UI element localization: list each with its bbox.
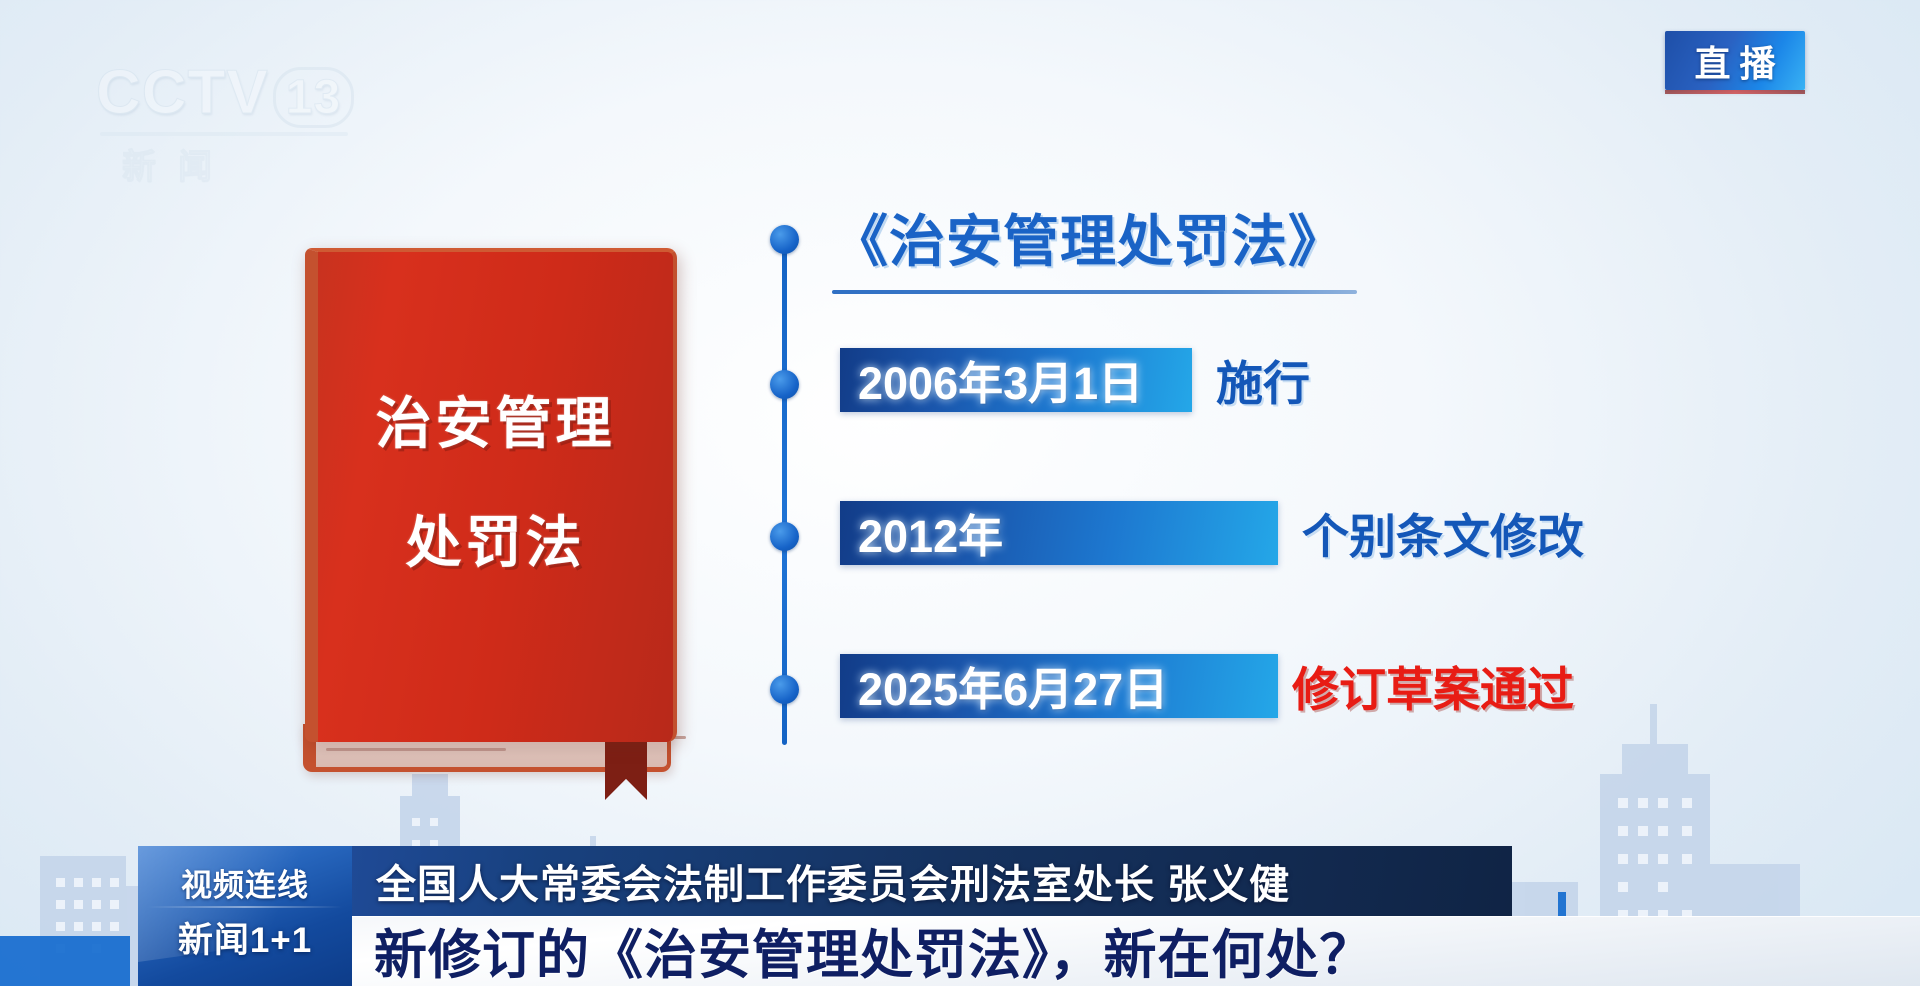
program-block-divider — [148, 906, 342, 908]
timeline-bullet-header — [770, 225, 799, 254]
law-timeline: 《治安管理处罚法》 2006年3月1日 施行 2012年 个别条文修改 2025… — [760, 205, 1740, 765]
connection-mode-label: 视频连线 — [138, 860, 352, 905]
headline-bar: 新修订的《治安管理处罚法》，新在何处？ — [352, 916, 1920, 986]
timeline-bullet-3 — [770, 675, 799, 704]
timeline-label-2: 个别条文修改 — [1278, 498, 1584, 567]
live-badge: 直播 — [1665, 31, 1805, 90]
timeline-date-3: 2025年6月27日 — [858, 653, 1168, 718]
timeline-bullet-2 — [770, 522, 799, 551]
timeline-bullet-1 — [770, 370, 799, 399]
book-title-line-1: 治安管理 — [376, 379, 616, 460]
live-badge-label: 直播 — [1685, 35, 1784, 87]
logo-underline — [100, 132, 348, 136]
timeline-header: 《治安管理处罚法》 — [832, 197, 1392, 294]
logo-channel-number: 13 — [273, 67, 354, 128]
timeline-row-3: 2025年6月27日 修订草案通过 — [840, 651, 1574, 720]
book-page-line — [326, 748, 506, 751]
timeline-date-chip-1: 2006年3月1日 — [840, 348, 1192, 412]
timeline-axis-line — [782, 237, 787, 745]
guest-name-bar: 全国人大常委会法制工作委员会刑法室处长 张义健 — [352, 846, 1512, 916]
lower-third-banner: 视频连线 新闻1+1 全国人大常委会法制工作委员会刑法室处长 张义健 新修订的《… — [0, 846, 1920, 986]
logo-cctv-text: CCTV — [96, 58, 269, 127]
logo-subtitle: 新闻 — [96, 139, 366, 188]
program-identity-block: 视频连线 新闻1+1 — [138, 846, 352, 986]
law-book-graphic: 治安管理 处罚法 — [305, 248, 677, 742]
timeline-date-2: 2012年 — [858, 500, 1003, 565]
timeline-row-2: 2012年 个别条文修改 — [840, 498, 1584, 567]
timeline-header-title: 《治安管理处罚法》 — [832, 197, 1392, 278]
book-bookmark-ribbon — [605, 738, 647, 800]
cctv13-channel-logo: CCTV13 新闻 — [96, 62, 366, 182]
timeline-date-chip-2: 2012年 — [840, 501, 1278, 565]
program-name-label: 新闻1+1 — [138, 912, 352, 963]
timeline-date-chip-3: 2025年6月27日 — [840, 654, 1278, 718]
headline-text: 新修订的《治安管理处罚法》，新在何处？ — [374, 913, 1374, 986]
timeline-label-1: 施行 — [1192, 345, 1310, 414]
timeline-row-1: 2006年3月1日 施行 — [840, 345, 1310, 414]
guest-title-and-name: 全国人大常委会法制工作委员会刑法室处长 张义健 — [376, 852, 1290, 910]
timeline-date-1: 2006年3月1日 — [858, 347, 1143, 412]
book-title-line-2: 处罚法 — [406, 498, 586, 579]
book-cover: 治安管理 处罚法 — [305, 248, 677, 742]
timeline-header-underline — [832, 290, 1357, 294]
logo-wordmark: CCTV13 — [96, 62, 366, 128]
timeline-label-3: 修订草案通过 — [1278, 651, 1574, 720]
